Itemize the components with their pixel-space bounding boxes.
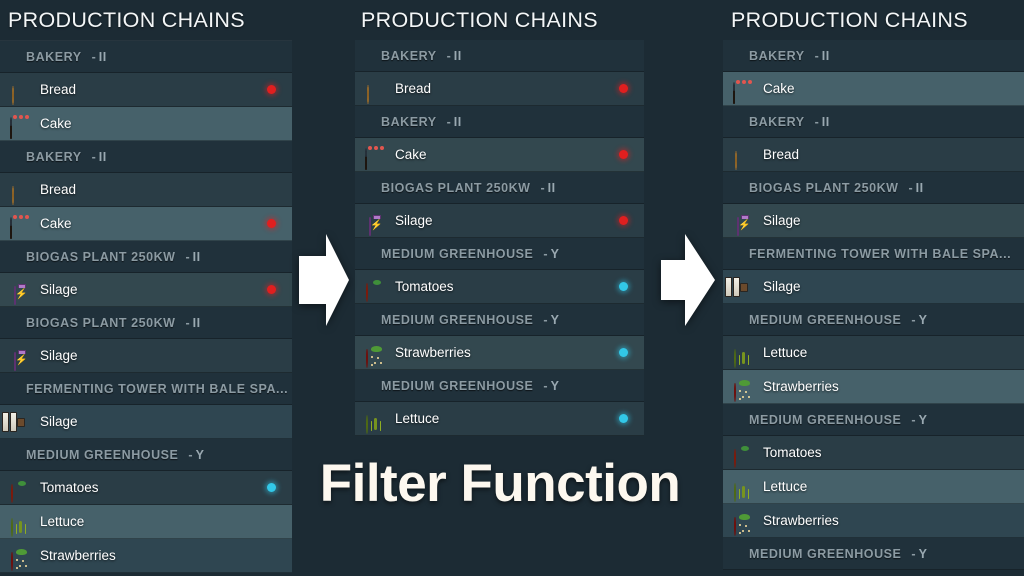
- production-item-label: Bread: [395, 72, 431, 106]
- production-group-header[interactable]: BAKERY-II: [0, 41, 292, 73]
- status-badge-blue: [619, 348, 628, 357]
- production-item-label: Bread: [40, 73, 76, 107]
- group-separator: -: [901, 547, 918, 561]
- group-level: Y: [919, 547, 928, 561]
- group-separator: -: [533, 247, 550, 261]
- status-badge-red: [619, 216, 628, 225]
- group-separator: -: [176, 250, 193, 264]
- production-item-label: Tomatoes: [763, 436, 822, 470]
- production-item-label: Cake: [40, 207, 72, 241]
- production-item-label: Silage: [40, 405, 78, 439]
- lettuce-icon: [365, 408, 387, 430]
- status-badge-blue: [267, 483, 276, 492]
- group-separator: -: [531, 181, 548, 195]
- cake-icon: [10, 113, 32, 135]
- production-item-row[interactable]: Silage: [0, 405, 292, 439]
- production-chain-list[interactable]: BAKERY-IICakeBAKERY-IIBreadBIOGAS PLANT …: [723, 40, 1024, 570]
- production-item-row[interactable]: Tomatoes: [723, 436, 1024, 470]
- group-name: MEDIUM GREENHOUSE: [749, 547, 901, 561]
- group-level: II: [193, 316, 201, 330]
- group-name: BIOGAS PLANT 250KW: [381, 181, 531, 195]
- group-separator: -: [533, 379, 550, 393]
- production-item-row[interactable]: Lettuce: [355, 402, 644, 436]
- cake-icon: [365, 144, 387, 166]
- group-separator: -: [901, 313, 918, 327]
- production-item-row[interactable]: Strawberries: [0, 539, 292, 573]
- production-item-row[interactable]: Cake: [723, 72, 1024, 106]
- arrow-right-1-icon: [299, 234, 349, 326]
- production-item-row[interactable]: Tomatoes: [355, 270, 644, 304]
- page-title: PRODUCTION CHAINS: [723, 0, 1024, 40]
- group-level: Y: [919, 313, 928, 327]
- group-level: II: [822, 115, 830, 129]
- bread-icon: [10, 79, 32, 101]
- production-item-row[interactable]: Silage: [0, 339, 292, 373]
- production-item-label: Silage: [395, 204, 433, 238]
- group-level: Y: [551, 247, 560, 261]
- production-item-row[interactable]: Bread: [723, 138, 1024, 172]
- production-item-row[interactable]: Bread: [0, 73, 292, 107]
- production-group-header[interactable]: MEDIUM GREENHOUSE-Y: [355, 370, 644, 402]
- production-group-header[interactable]: FERMENTING TOWER WITH BALE SPA...: [723, 238, 1024, 270]
- production-item-row[interactable]: Cake: [0, 207, 292, 241]
- group-separator: -: [82, 150, 99, 164]
- screenshot-root: PRODUCTION CHAINS BAKERY-IIBreadCakeBAKE…: [0, 0, 1024, 576]
- group-name: FERMENTING TOWER WITH BALE SPA...: [26, 382, 288, 396]
- tomato-icon: [365, 276, 387, 298]
- group-separator: -: [533, 313, 550, 327]
- group-separator: -: [176, 316, 193, 330]
- production-item-label: Cake: [763, 72, 795, 106]
- group-name: BAKERY: [381, 115, 437, 129]
- cake-icon: [10, 213, 32, 235]
- group-separator: -: [178, 448, 195, 462]
- production-item-row[interactable]: Silage: [723, 204, 1024, 238]
- group-level: Y: [196, 448, 205, 462]
- arrow-right-2-icon: [661, 234, 715, 326]
- bread-icon: [365, 78, 387, 100]
- lettuce-icon: [10, 511, 32, 533]
- production-item-label: Cake: [40, 107, 72, 141]
- silage-bottle-icon: [10, 279, 32, 301]
- group-separator: -: [437, 49, 454, 63]
- production-item-label: Lettuce: [40, 505, 84, 539]
- production-group-header[interactable]: MEDIUM GREENHOUSE-Y: [723, 304, 1024, 336]
- status-badge-red: [267, 219, 276, 228]
- production-item-row[interactable]: Lettuce: [723, 336, 1024, 370]
- production-item-label: Strawberries: [763, 504, 839, 538]
- production-item-label: Bread: [763, 138, 799, 172]
- group-name: BAKERY: [26, 50, 82, 64]
- production-item-label: Strawberries: [395, 336, 471, 370]
- group-level: Y: [551, 313, 560, 327]
- group-separator: -: [805, 115, 822, 129]
- group-name: MEDIUM GREENHOUSE: [26, 448, 178, 462]
- production-item-label: Silage: [763, 204, 801, 238]
- silage-bottle-icon: [733, 210, 755, 232]
- group-level: II: [454, 115, 462, 129]
- production-item-label: Strawberries: [763, 370, 839, 404]
- group-name: BIOGAS PLANT 250KW: [26, 316, 176, 330]
- lettuce-icon: [733, 342, 755, 364]
- production-item-row[interactable]: Silage: [723, 270, 1024, 304]
- group-level: II: [916, 181, 924, 195]
- group-name: FERMENTING TOWER WITH BALE SPA...: [749, 247, 1011, 261]
- group-level: II: [99, 50, 107, 64]
- page-title: PRODUCTION CHAINS: [0, 0, 292, 40]
- status-badge-red: [267, 285, 276, 294]
- production-item-label: Lettuce: [763, 470, 807, 504]
- group-name: BAKERY: [381, 49, 437, 63]
- production-group-header[interactable]: BAKERY-II: [0, 141, 292, 173]
- group-name: BIOGAS PLANT 250KW: [26, 250, 176, 264]
- silage-bale-icon: [10, 411, 32, 433]
- status-badge-blue: [619, 414, 628, 423]
- strawberry-icon: [733, 376, 755, 398]
- production-item-label: Cake: [395, 138, 427, 172]
- status-badge-red: [619, 150, 628, 159]
- production-item-label: Silage: [40, 273, 78, 307]
- group-level: Y: [919, 413, 928, 427]
- group-separator: -: [437, 115, 454, 129]
- group-name: MEDIUM GREENHOUSE: [381, 313, 533, 327]
- production-item-row[interactable]: Bread: [355, 72, 644, 106]
- tomato-icon: [10, 477, 32, 499]
- production-item-label: Tomatoes: [40, 471, 99, 505]
- production-item-row[interactable]: Cake: [355, 138, 644, 172]
- production-item-row[interactable]: Lettuce: [723, 470, 1024, 504]
- production-item-row[interactable]: Silage: [355, 204, 644, 238]
- production-item-row[interactable]: Strawberries: [355, 336, 644, 370]
- silage-bale-icon: [733, 276, 755, 298]
- bread-icon: [733, 144, 755, 166]
- production-item-label: Lettuce: [763, 336, 807, 370]
- group-level: II: [822, 49, 830, 63]
- group-level: Y: [551, 379, 560, 393]
- production-group-header[interactable]: BAKERY-II: [723, 106, 1024, 138]
- group-name: MEDIUM GREENHOUSE: [381, 247, 533, 261]
- production-chain-list[interactable]: BAKERY-IIBreadBAKERY-IICakeBIOGAS PLANT …: [355, 40, 644, 436]
- group-level: II: [548, 181, 556, 195]
- production-item-row[interactable]: Silage: [0, 273, 292, 307]
- cake-icon: [733, 78, 755, 100]
- production-group-header[interactable]: MEDIUM GREENHOUSE-Y: [723, 404, 1024, 436]
- production-group-header[interactable]: BIOGAS PLANT 250KW-II: [723, 172, 1024, 204]
- group-level: II: [193, 250, 201, 264]
- production-item-row[interactable]: Bread: [0, 173, 292, 207]
- tomato-icon: [733, 442, 755, 464]
- production-item-label: Strawberries: [40, 539, 116, 573]
- status-badge-red: [619, 84, 628, 93]
- page-title: PRODUCTION CHAINS: [355, 0, 644, 40]
- production-chains-panel-filtered-2: PRODUCTION CHAINS BAKERY-IICakeBAKERY-II…: [723, 0, 1024, 576]
- production-group-header[interactable]: MEDIUM GREENHOUSE-Y: [355, 238, 644, 270]
- strawberry-icon: [733, 510, 755, 532]
- production-item-label: Tomatoes: [395, 270, 454, 304]
- group-name: MEDIUM GREENHOUSE: [381, 379, 533, 393]
- silage-bottle-icon: [10, 345, 32, 367]
- group-separator: -: [901, 413, 918, 427]
- lettuce-icon: [733, 476, 755, 498]
- production-group-header[interactable]: MEDIUM GREENHOUSE-Y: [723, 538, 1024, 570]
- production-item-label: Lettuce: [395, 402, 439, 436]
- production-item-row[interactable]: Strawberries: [723, 504, 1024, 538]
- silage-bottle-icon: [365, 210, 387, 232]
- production-item-label: Silage: [40, 339, 78, 373]
- status-badge-red: [267, 85, 276, 94]
- group-level: II: [454, 49, 462, 63]
- group-name: BIOGAS PLANT 250KW: [749, 181, 899, 195]
- group-name: MEDIUM GREENHOUSE: [749, 313, 901, 327]
- production-group-header[interactable]: BIOGAS PLANT 250KW-II: [0, 241, 292, 273]
- production-group-header[interactable]: BAKERY-II: [355, 106, 644, 138]
- production-group-header[interactable]: BIOGAS PLANT 250KW-II: [0, 307, 292, 339]
- production-group-header[interactable]: MEDIUM GREENHOUSE-Y: [0, 439, 292, 471]
- group-separator: -: [899, 181, 916, 195]
- production-item-label: Bread: [40, 173, 76, 207]
- caption-filter-function: Filter Function: [300, 452, 700, 516]
- group-name: BAKERY: [26, 150, 82, 164]
- production-item-row[interactable]: Strawberries: [723, 370, 1024, 404]
- group-separator: -: [805, 49, 822, 63]
- status-badge-blue: [619, 282, 628, 291]
- group-name: BAKERY: [749, 49, 805, 63]
- production-group-header[interactable]: BAKERY-II: [355, 40, 644, 72]
- production-item-row[interactable]: Tomatoes: [0, 471, 292, 505]
- production-chain-list[interactable]: BAKERY-IIBreadCakeBAKERY-IIBreadCakeBIOG…: [0, 40, 292, 573]
- production-group-header[interactable]: BIOGAS PLANT 250KW-II: [355, 172, 644, 204]
- group-name: BAKERY: [749, 115, 805, 129]
- production-chains-panel-unfiltered: PRODUCTION CHAINS BAKERY-IIBreadCakeBAKE…: [0, 0, 292, 576]
- group-level: II: [99, 150, 107, 164]
- production-item-label: Silage: [763, 270, 801, 304]
- production-group-header[interactable]: FERMENTING TOWER WITH BALE SPA...: [0, 373, 292, 405]
- group-separator: -: [82, 50, 99, 64]
- strawberry-icon: [10, 545, 32, 567]
- production-item-row[interactable]: Cake: [0, 107, 292, 141]
- production-item-row[interactable]: Lettuce: [0, 505, 292, 539]
- production-group-header[interactable]: BAKERY-II: [723, 40, 1024, 72]
- bread-icon: [10, 179, 32, 201]
- group-name: MEDIUM GREENHOUSE: [749, 413, 901, 427]
- strawberry-icon: [365, 342, 387, 364]
- production-group-header[interactable]: MEDIUM GREENHOUSE-Y: [355, 304, 644, 336]
